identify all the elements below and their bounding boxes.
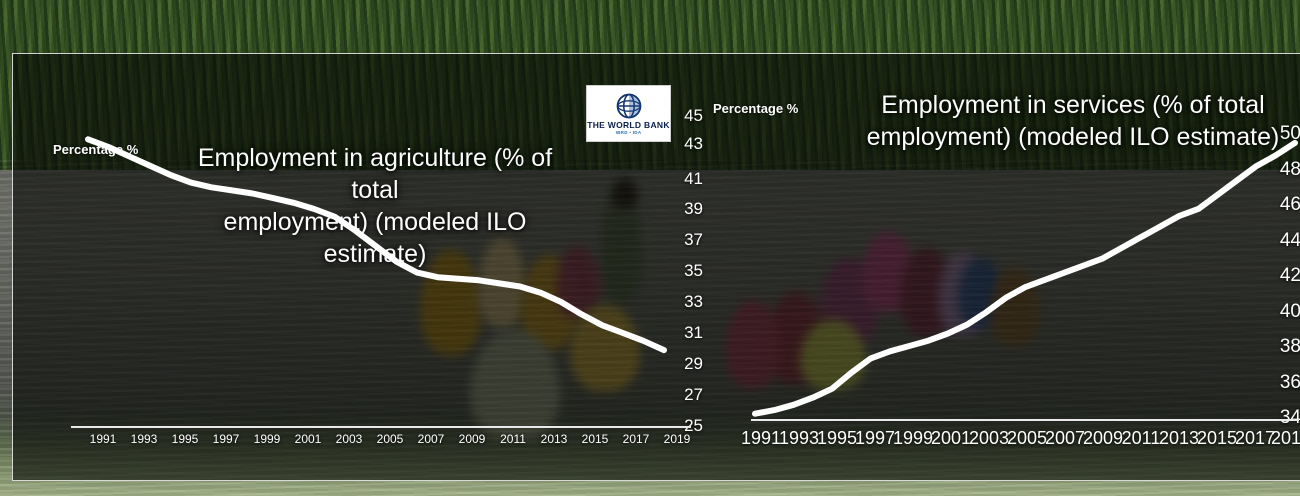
x-tick: 1997 bbox=[855, 428, 895, 449]
world-bank-name: THE WORLD BANK bbox=[587, 121, 670, 130]
x-tick: 2001 bbox=[295, 432, 322, 446]
x-tick: 2007 bbox=[1045, 428, 1085, 449]
x-tick: 2003 bbox=[969, 428, 1009, 449]
x-tick: 2003 bbox=[336, 432, 363, 446]
x-tick: 2019 bbox=[664, 432, 691, 446]
x-tick: 2009 bbox=[1083, 428, 1123, 449]
x-tick: 1993 bbox=[779, 428, 819, 449]
x-tick: 2005 bbox=[1007, 428, 1047, 449]
x-tick: 2013 bbox=[541, 432, 568, 446]
x-tick: 1999 bbox=[254, 432, 281, 446]
x-tick: 2005 bbox=[377, 432, 404, 446]
globe-icon bbox=[616, 93, 642, 119]
x-tick: 2015 bbox=[582, 432, 609, 446]
x-tick: 1993 bbox=[131, 432, 158, 446]
x-tick: 2013 bbox=[1159, 428, 1199, 449]
x-tick: 2011 bbox=[1122, 428, 1161, 449]
x-tick: 2009 bbox=[459, 432, 486, 446]
x-tick: 2007 bbox=[418, 432, 445, 446]
x-tick: 1995 bbox=[817, 428, 857, 449]
x-tick: 2017 bbox=[623, 432, 650, 446]
x-tick: 1991 bbox=[90, 432, 117, 446]
x-tick: 2001 bbox=[931, 428, 971, 449]
x-tick: 2019 bbox=[1271, 428, 1300, 449]
x-tick: 2015 bbox=[1197, 428, 1237, 449]
x-tick: 1997 bbox=[213, 432, 240, 446]
x-tick: 1999 bbox=[893, 428, 933, 449]
services-line-series bbox=[703, 54, 1300, 482]
world-bank-subtitle: IBRD • IDA bbox=[616, 131, 642, 136]
x-tick: 1991 bbox=[741, 428, 781, 449]
x-tick: 1995 bbox=[172, 432, 199, 446]
x-tick: 2017 bbox=[1235, 428, 1275, 449]
world-bank-logo: THE WORLD BANK IBRD • IDA bbox=[586, 85, 671, 142]
x-tick: 2011 bbox=[500, 432, 526, 446]
services-chart: Percentage % Employment in services (% o… bbox=[703, 54, 1300, 482]
